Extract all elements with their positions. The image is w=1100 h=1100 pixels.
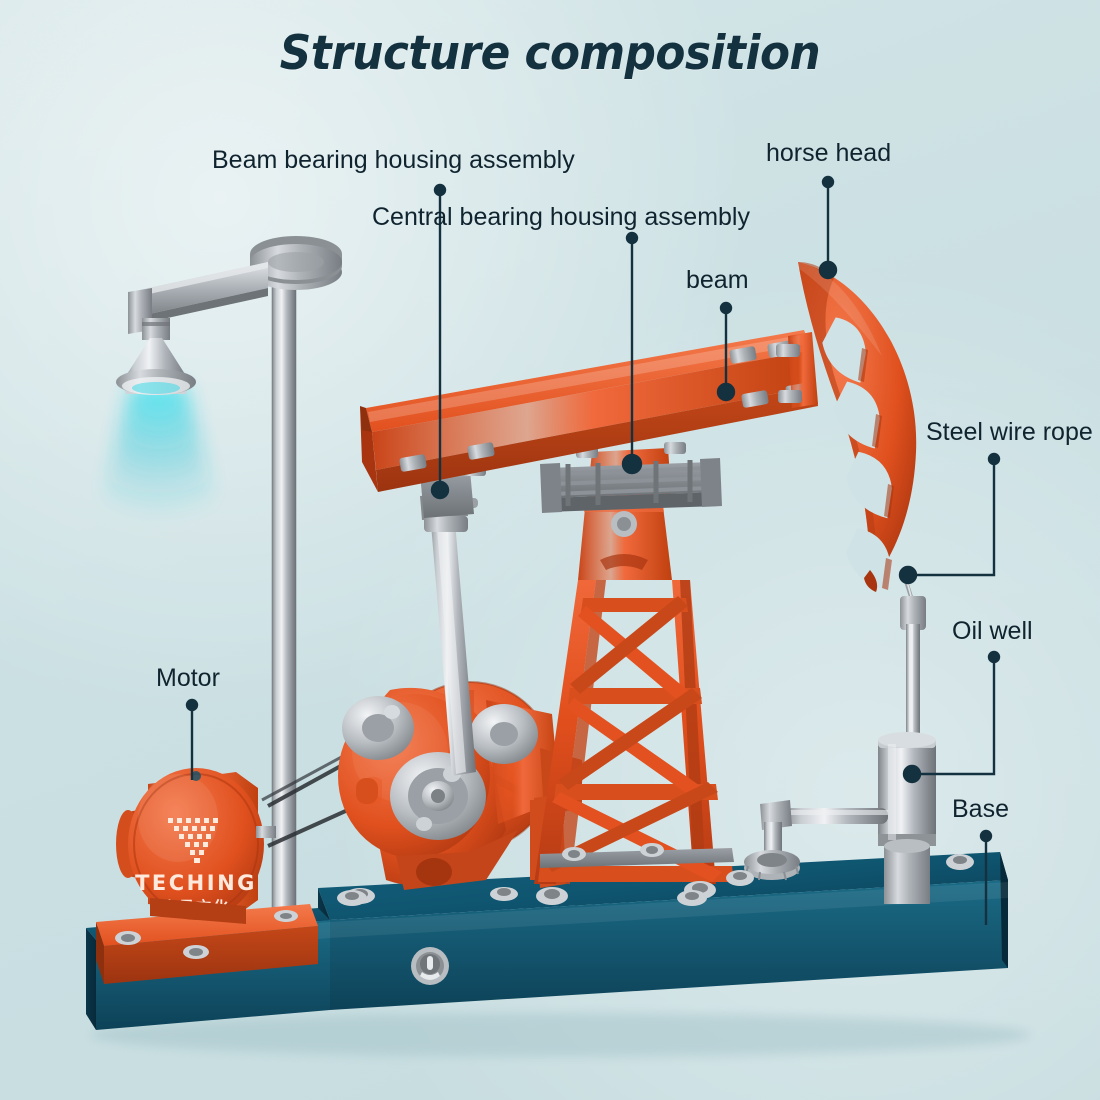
horse-head <box>776 262 916 592</box>
label-central-bearing-housing-assembly: Central bearing housing assembly <box>372 205 750 230</box>
power-switch <box>411 947 449 985</box>
diagram-canvas: TECHING 土星文化 <box>0 0 1100 1100</box>
page-title: Structure composition <box>39 26 1062 81</box>
samson-post-tower <box>534 498 734 905</box>
label-steel-wire-rope: Steel wire rope <box>926 420 1093 445</box>
label-horse-head: horse head <box>766 141 891 166</box>
label-beam: beam <box>686 268 749 293</box>
label-motor: Motor <box>156 666 220 691</box>
label-oil-well: Oil well <box>952 619 1033 644</box>
label-beam-bearing-housing-assembly: Beam bearing housing assembly <box>212 148 575 173</box>
label-base: Base <box>952 797 1009 822</box>
motor: TECHING 土星文化 <box>116 768 276 924</box>
oil-well-cylinder <box>878 596 936 904</box>
brand-text: TECHING <box>135 871 257 895</box>
